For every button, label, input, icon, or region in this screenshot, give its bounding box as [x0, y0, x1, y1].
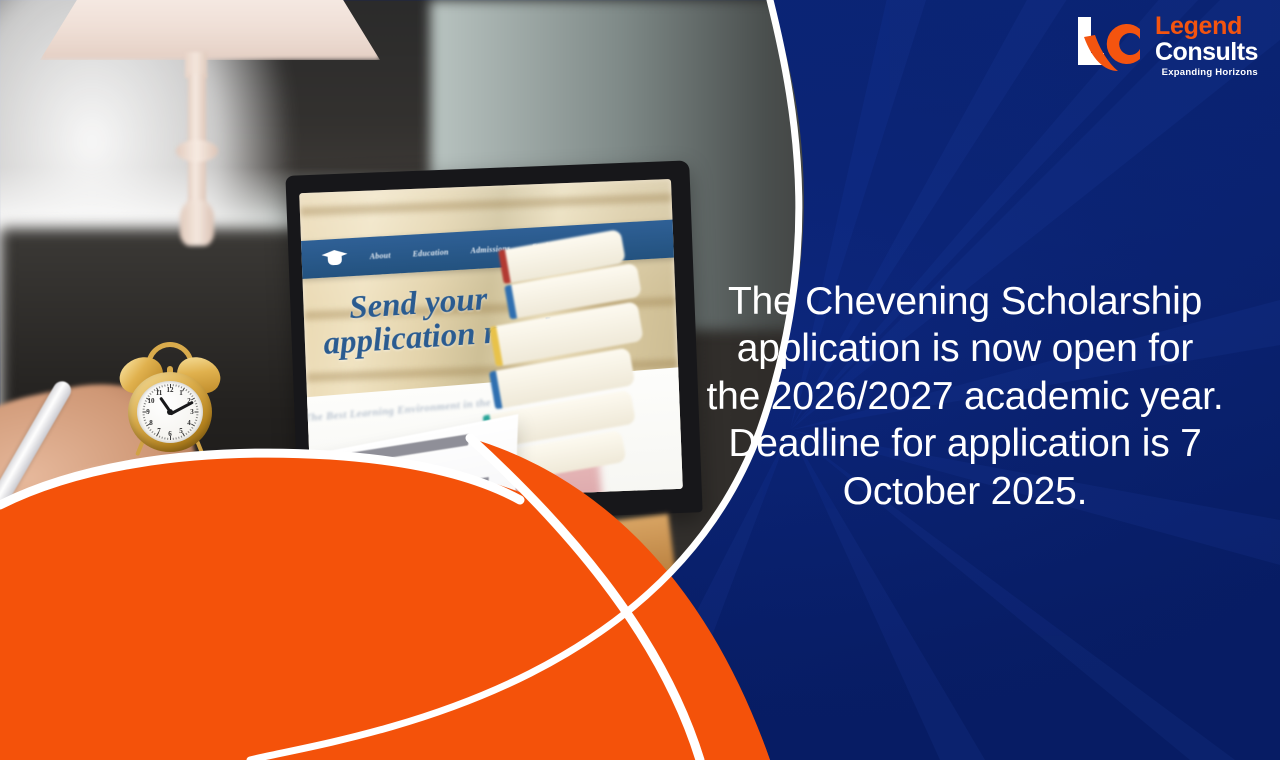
logo-name-line2: Consults — [1155, 40, 1258, 65]
headline-line-4: Deadline for application is 7 — [728, 422, 1201, 465]
logo-wordmark: Legend Consults Expanding Horizons — [1155, 11, 1258, 78]
headline-line-2: application is now open for — [737, 327, 1193, 370]
headline-line-5: October 2025. — [843, 470, 1088, 513]
headline-line-3: the 2026/2027 academic year. — [707, 375, 1224, 418]
logo-name-line1: Legend — [1155, 14, 1242, 39]
headline: The Chevening Scholarship application is… — [676, 278, 1254, 515]
brand-logo[interactable]: Legend Consults Expanding Horizons — [1074, 8, 1264, 80]
lc-monogram-icon — [1074, 13, 1148, 75]
logo-tagline: Expanding Horizons — [1162, 68, 1258, 78]
banner-canvas: About Education Admissions Student Life … — [0, 0, 1280, 760]
headline-line-1: The Chevening Scholarship — [728, 280, 1202, 323]
